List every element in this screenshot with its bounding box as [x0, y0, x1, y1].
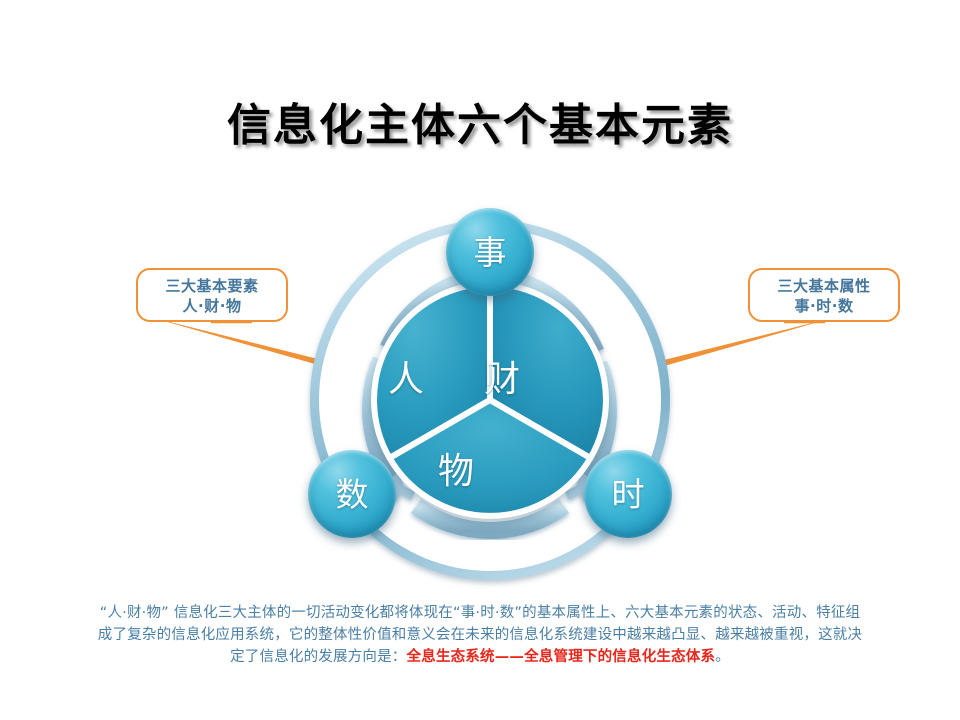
node-sphere-shi-event[interactable]: 事: [446, 208, 534, 296]
callout-right[interactable]: 三大基本属性 事·时·数: [748, 268, 900, 322]
slide-canvas: 信息化主体六个基本元素: [0, 0, 960, 720]
page-title: 信息化主体六个基本元素: [0, 102, 960, 150]
node-sphere-shi-time[interactable]: 时: [584, 450, 672, 538]
node-sphere-shu[interactable]: 数: [308, 450, 396, 538]
callout-left[interactable]: 三大基本要素 人·财·物: [136, 268, 288, 322]
callout-left-line1: 三大基本要素: [148, 276, 276, 296]
footnote-part2: 。: [715, 649, 730, 665]
node-label-shu: 数: [336, 478, 369, 511]
inner-pie: [370, 280, 610, 520]
footnote-paragraph: “人·财·物” 信息化三大主体的一切活动变化都将体现在“事·时·数”的基本属性上…: [96, 602, 864, 668]
callout-right-line1: 三大基本属性: [760, 276, 888, 296]
footnote-emphasis: 全息生态系统——全息管理下的信息化生态体系: [407, 649, 716, 665]
six-elements-diagram: 人 财 物 事 数 时: [288, 198, 692, 602]
node-label-shi-time: 时: [612, 478, 645, 511]
callout-right-line2: 事·时·数: [760, 296, 888, 316]
node-label-shi-event: 事: [474, 236, 507, 269]
callout-left-line2: 人·财·物: [148, 296, 276, 316]
